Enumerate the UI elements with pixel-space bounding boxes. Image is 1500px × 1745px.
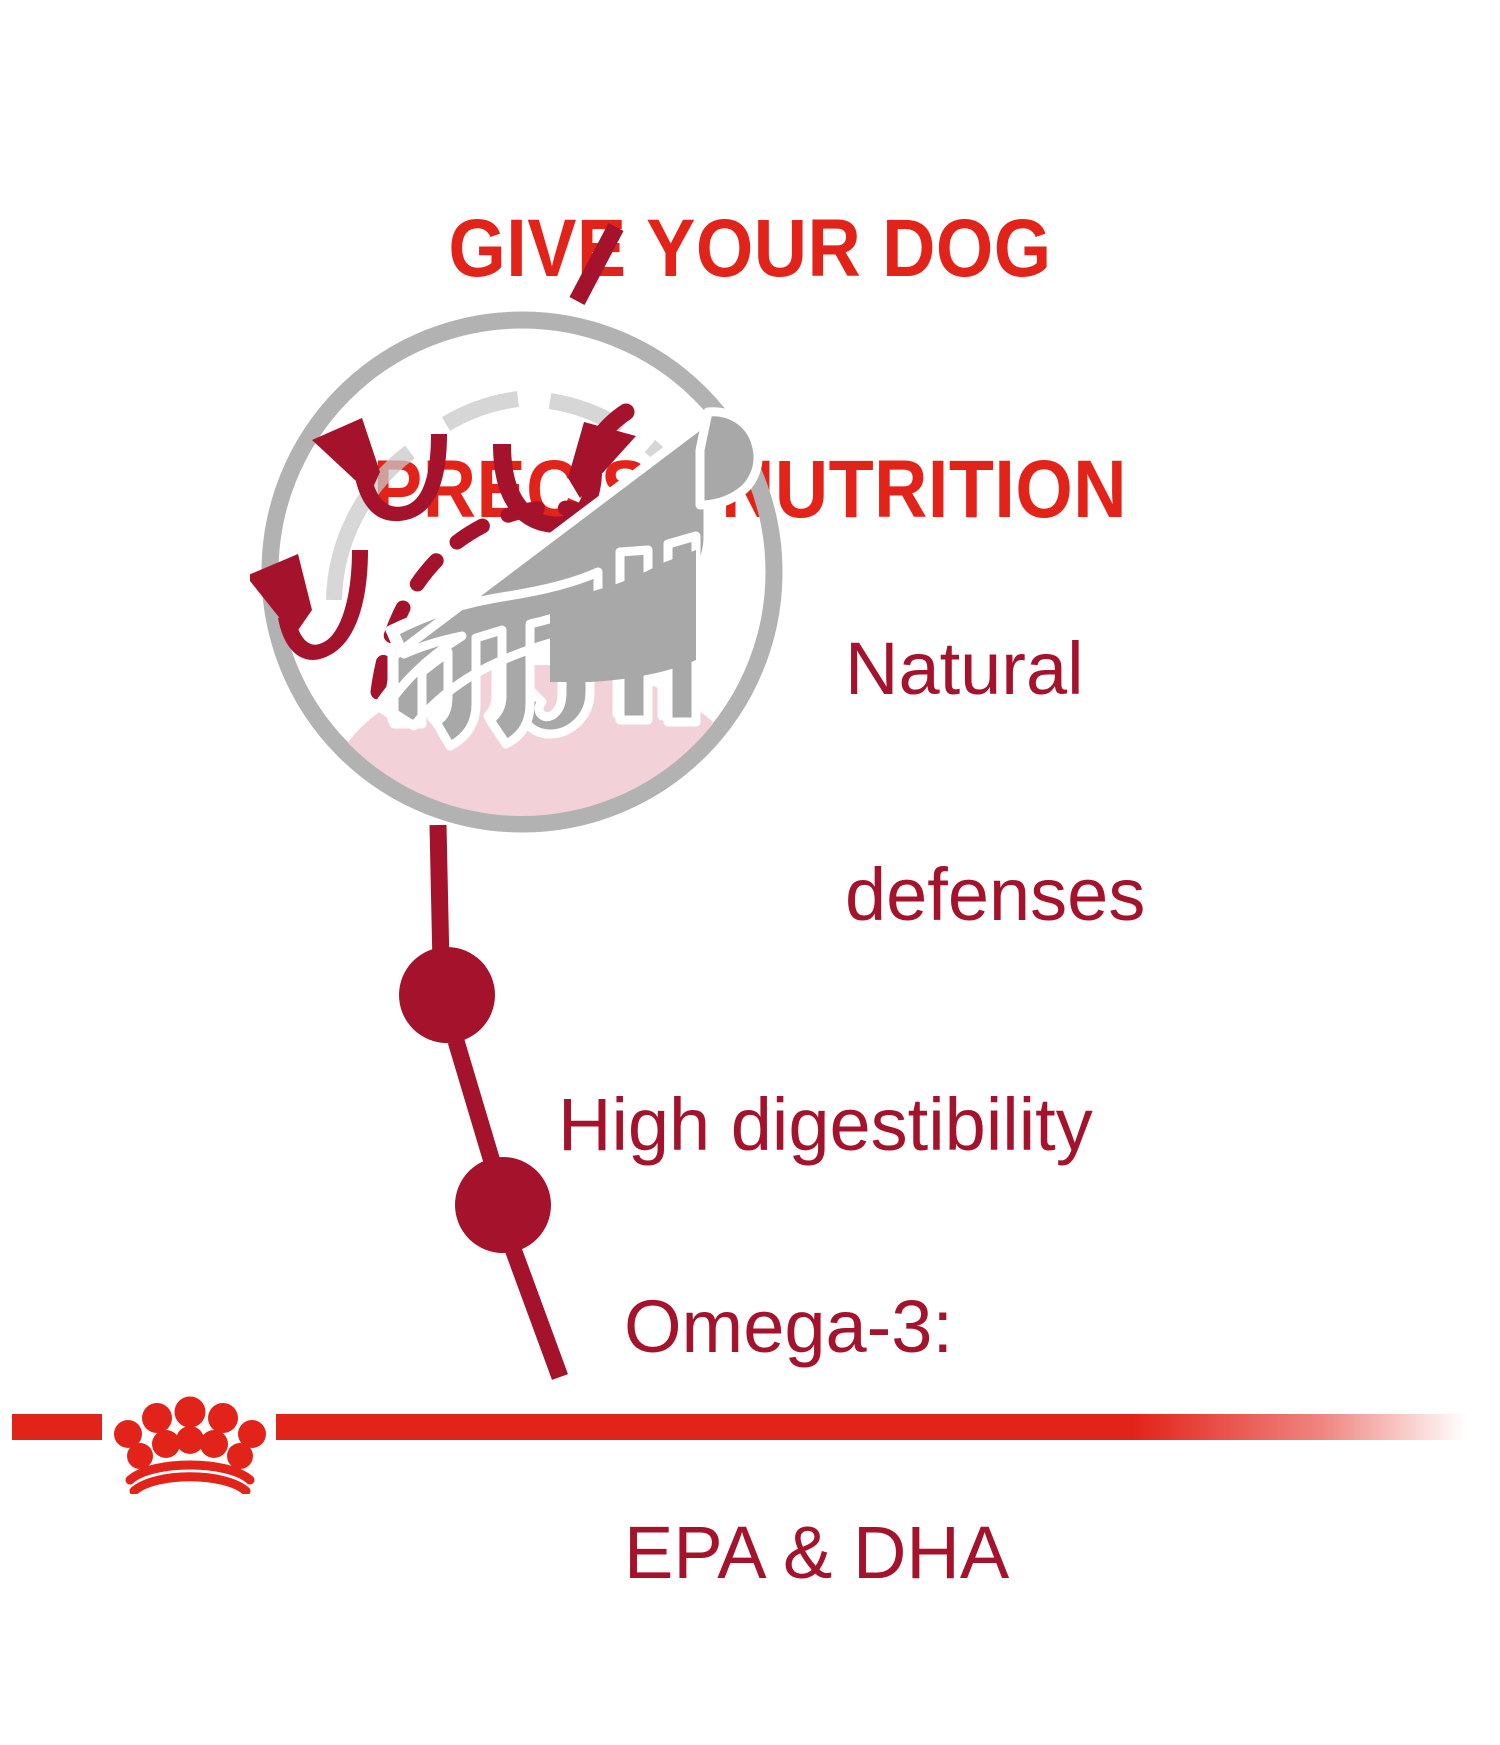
benefit-line-1: Omega-3:: [624, 1289, 1009, 1364]
connector-stem-upper: [438, 825, 441, 965]
royal-canin-crown-logo: [100, 1376, 280, 1494]
crown-dots: [114, 1397, 266, 1470]
connector-stem-middle: [456, 1041, 493, 1165]
connector-node-1: [399, 947, 495, 1043]
footer-rule-left: [12, 1414, 102, 1440]
benefit-line-2: defenses: [845, 857, 1145, 932]
connector-stem-lower: [513, 1249, 560, 1377]
natural-defenses-icon: [250, 300, 795, 845]
benefit-line-2: EPA & DHA: [624, 1515, 1009, 1590]
crown-base-arcs: [130, 1465, 250, 1491]
connector-node-2: [455, 1157, 551, 1253]
footer: [0, 1370, 1500, 1500]
connector-top-stroke: [577, 227, 616, 301]
headline-line-1: GIVE YOUR DOG: [75, 209, 1425, 289]
benefit-line-1: Natural: [845, 631, 1145, 706]
footer-rule-right: [276, 1414, 1466, 1440]
promo-panel: GIVE YOUR DOG PRECISE NUTRITION: [0, 0, 1500, 1500]
